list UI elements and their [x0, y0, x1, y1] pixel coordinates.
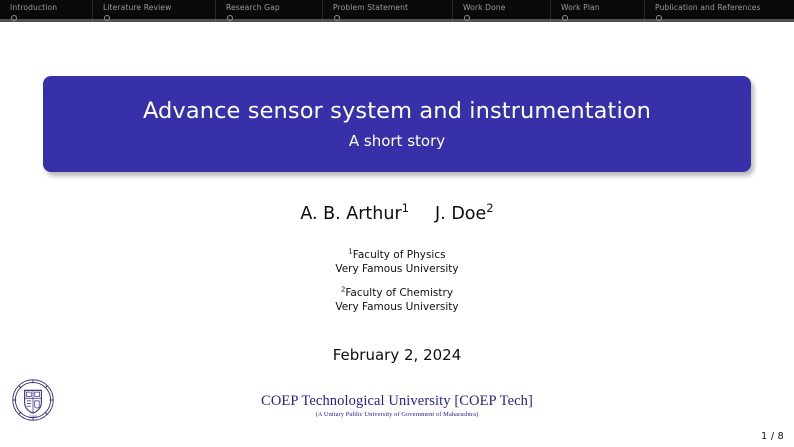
nav-section-label: Problem Statement	[333, 0, 452, 13]
author-two: J. Doe2	[435, 204, 494, 224]
nav-section-label: Research Gap	[226, 0, 322, 13]
svg-text:COEP: COEP	[29, 415, 38, 419]
affiliation-one-institution: Very Famous University	[0, 263, 794, 277]
affiliations-block: 1Faculty of Physics Very Famous Universi…	[0, 249, 794, 314]
nav-slide-dot-icon[interactable]	[104, 15, 110, 21]
nav-section-label: Work Done	[463, 0, 550, 13]
author-two-affiliation-marker: 2	[486, 201, 493, 215]
nav-slide-dot-icon[interactable]	[562, 15, 568, 21]
affiliation-two-department: Faculty of Chemistry	[345, 287, 453, 299]
nav-section-work-plan[interactable]: Work Plan	[550, 0, 644, 22]
affiliation-two-institution: Very Famous University	[0, 301, 794, 315]
nav-section-research-gap[interactable]: Research Gap	[215, 0, 322, 22]
nav-section-literature-review[interactable]: Literature Review	[92, 0, 215, 22]
page-indicator: 1 / 8	[761, 431, 784, 443]
presentation-title: Advance sensor system and instrumentatio…	[143, 97, 651, 125]
nav-section-label: Work Plan	[561, 0, 644, 13]
author-two-name: J. Doe	[435, 204, 486, 224]
presentation-subtitle: A short story	[349, 130, 445, 152]
institution-tagline: (A Unitary Public University of Governme…	[0, 410, 794, 419]
author-one-name: A. B. Arthur	[300, 204, 401, 224]
nav-slide-dot-icon[interactable]	[656, 15, 662, 21]
nav-section-problem-statement[interactable]: Problem Statement	[322, 0, 452, 22]
beamer-navigation-bar: Introduction Literature Review Research …	[0, 0, 794, 22]
nav-slide-dot-icon[interactable]	[11, 15, 17, 21]
institution-block: COEP Technological University [COEP Tech…	[0, 393, 794, 419]
authors-line: A. B. Arthur1J. Doe2	[0, 203, 794, 225]
nav-section-label: Literature Review	[103, 0, 215, 13]
nav-section-label: Publication and References	[655, 0, 794, 13]
author-one-affiliation-marker: 1	[402, 201, 409, 215]
nav-section-introduction[interactable]: Introduction	[0, 0, 92, 22]
affiliation-two-department-line: 2Faculty of Chemistry	[0, 287, 794, 301]
nav-section-label: Introduction	[10, 0, 92, 13]
nav-slide-dot-icon[interactable]	[227, 15, 233, 21]
nav-slide-dot-icon[interactable]	[464, 15, 470, 21]
affiliation-one-department-line: 1Faculty of Physics	[0, 249, 794, 263]
institution-name: COEP Technological University [COEP Tech…	[0, 393, 794, 410]
title-block: Advance sensor system and instrumentatio…	[43, 76, 751, 172]
affiliation-two: 2Faculty of Chemistry Very Famous Univer…	[0, 287, 794, 314]
nav-slide-dot-icon[interactable]	[334, 15, 340, 21]
affiliation-one-department: Faculty of Physics	[353, 249, 446, 261]
nav-section-publication-and-references[interactable]: Publication and References	[644, 0, 794, 22]
presentation-date: February 2, 2024	[0, 345, 794, 365]
university-crest-logo: COEP	[11, 378, 55, 422]
affiliation-one: 1Faculty of Physics Very Famous Universi…	[0, 249, 794, 276]
nav-section-work-done[interactable]: Work Done	[452, 0, 550, 22]
author-one: A. B. Arthur1	[300, 204, 409, 224]
